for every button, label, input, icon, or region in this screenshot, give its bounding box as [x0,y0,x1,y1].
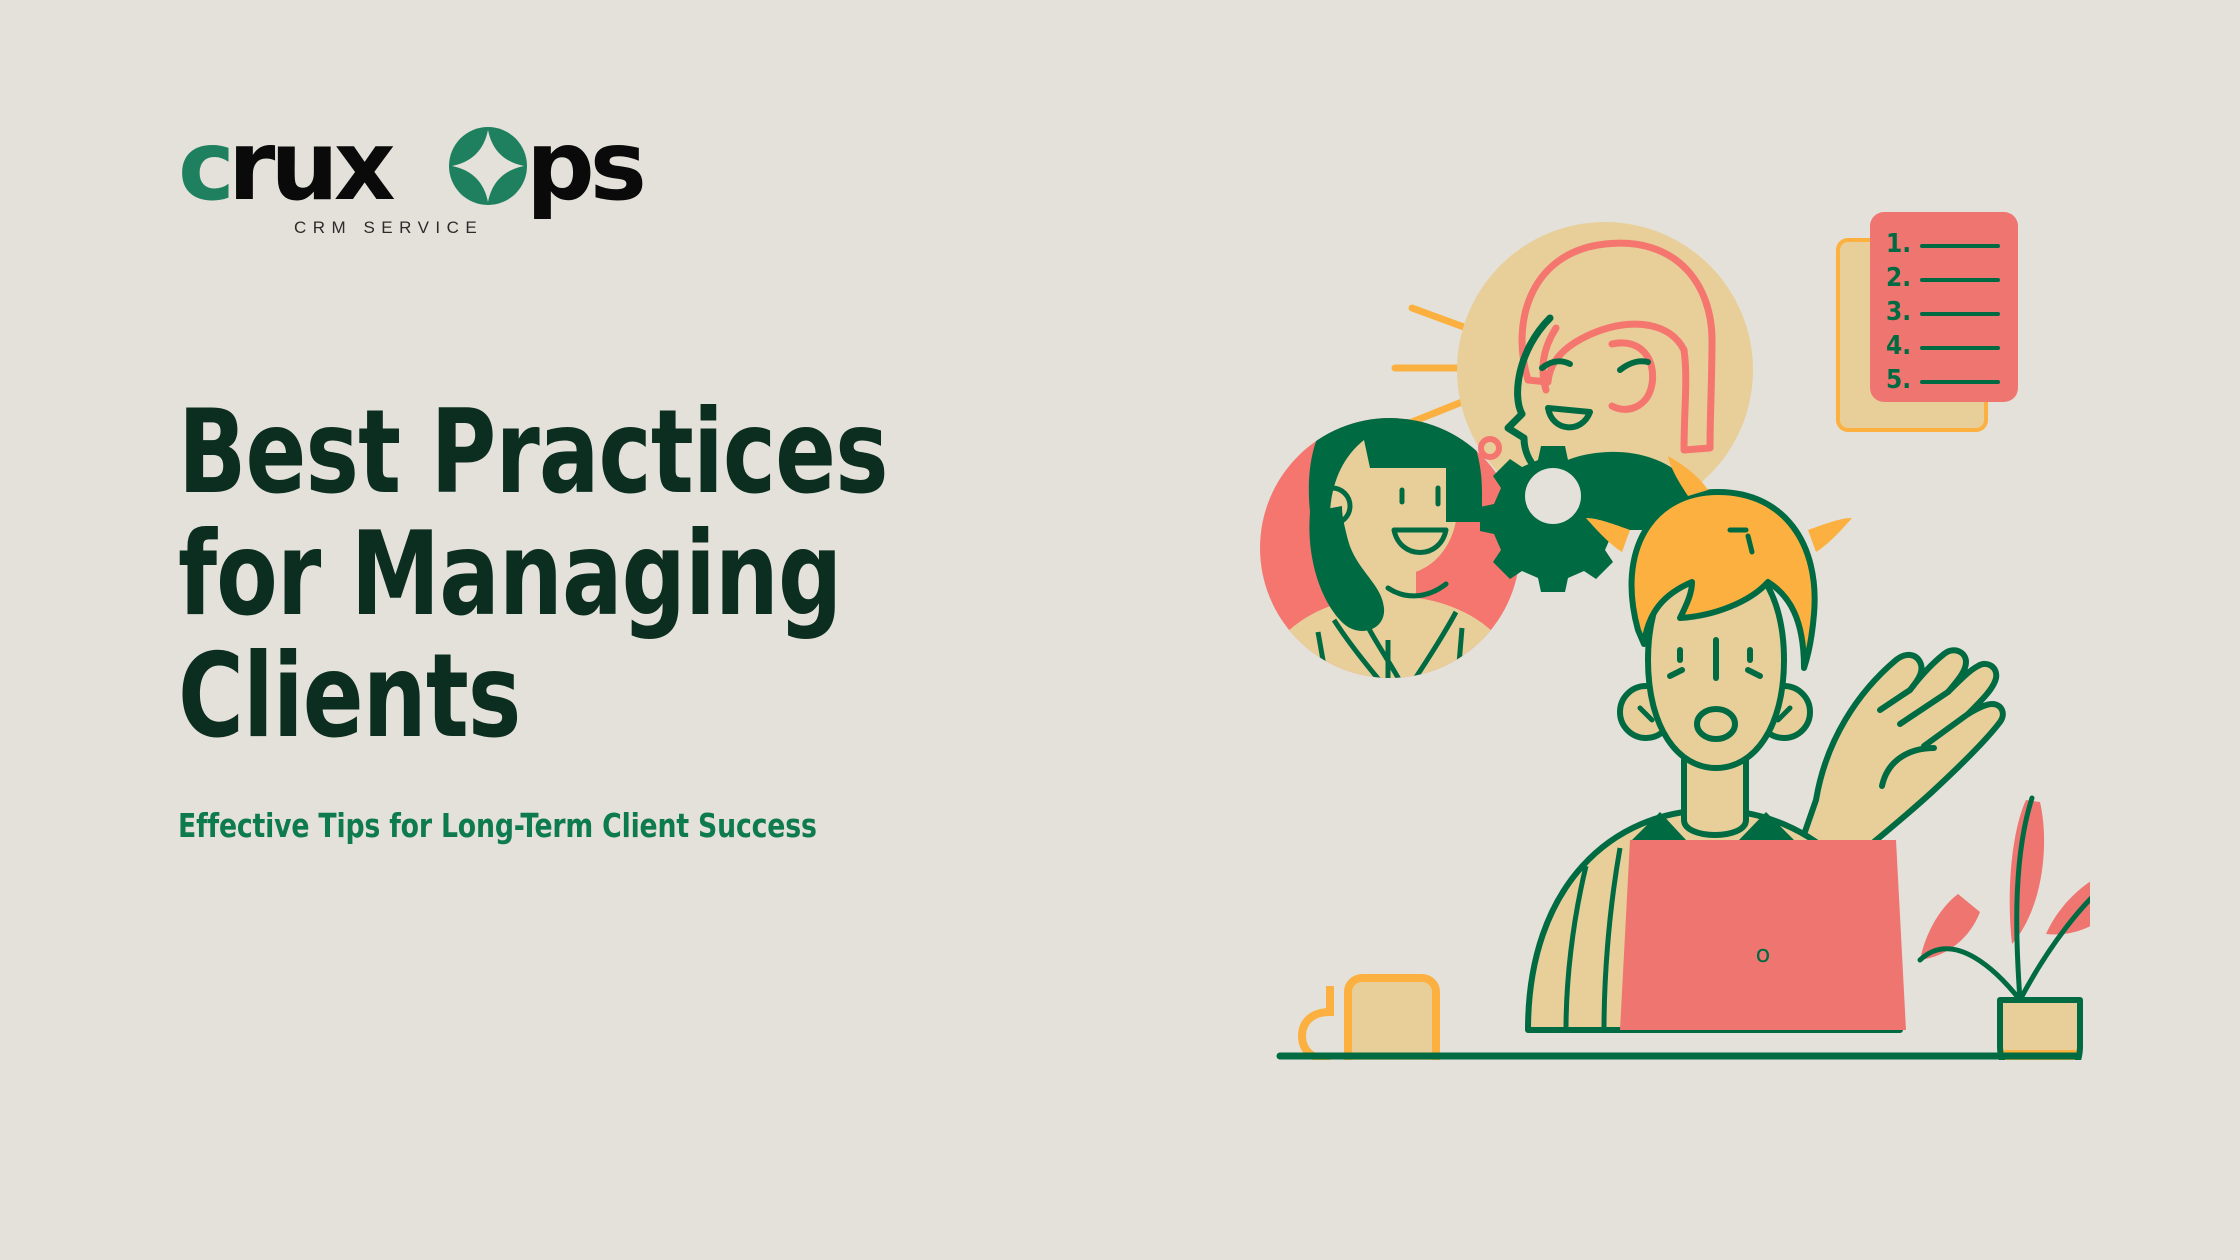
gear-icon [1480,446,1626,592]
poster-canvas: c rux ps CRM SERVICE Best Practices for … [0,0,2240,1260]
brand-logo[interactable]: c rux ps CRM SERVICE [178,118,678,248]
laptop: o [1620,840,1906,1030]
checklist-number: 3. [1886,297,1911,327]
hero-heading-block: Best Practices for Managing Clients [178,392,1078,758]
checklist-number: 1. [1886,229,1911,259]
page-title: Best Practices for Managing Clients [178,392,952,758]
logo-letter-c: c [178,118,230,214]
checklist-card: 1. 2. 3. 4. 5. [1838,212,2018,430]
checklist-number: 4. [1886,331,1911,361]
coffee-mug [1302,978,1436,1060]
checklist-number: 5. [1886,365,1911,395]
checklist-number: 2. [1886,263,1911,293]
potted-plant [1920,798,2090,1060]
four-point-star-in-circle-icon [448,126,528,206]
laptop-logo: o [1756,940,1771,968]
logo-letters-ps: ps [526,118,642,214]
logo-letters-rux: rux [228,118,391,214]
page-subtitle: Effective Tips for Long-Term Client Succ… [178,806,817,845]
client-management-illustration: 1. 2. 3. 4. 5. [1260,200,2090,1060]
logo-wordmark: c rux ps [178,118,678,214]
logo-tagline: CRM SERVICE [294,218,483,238]
